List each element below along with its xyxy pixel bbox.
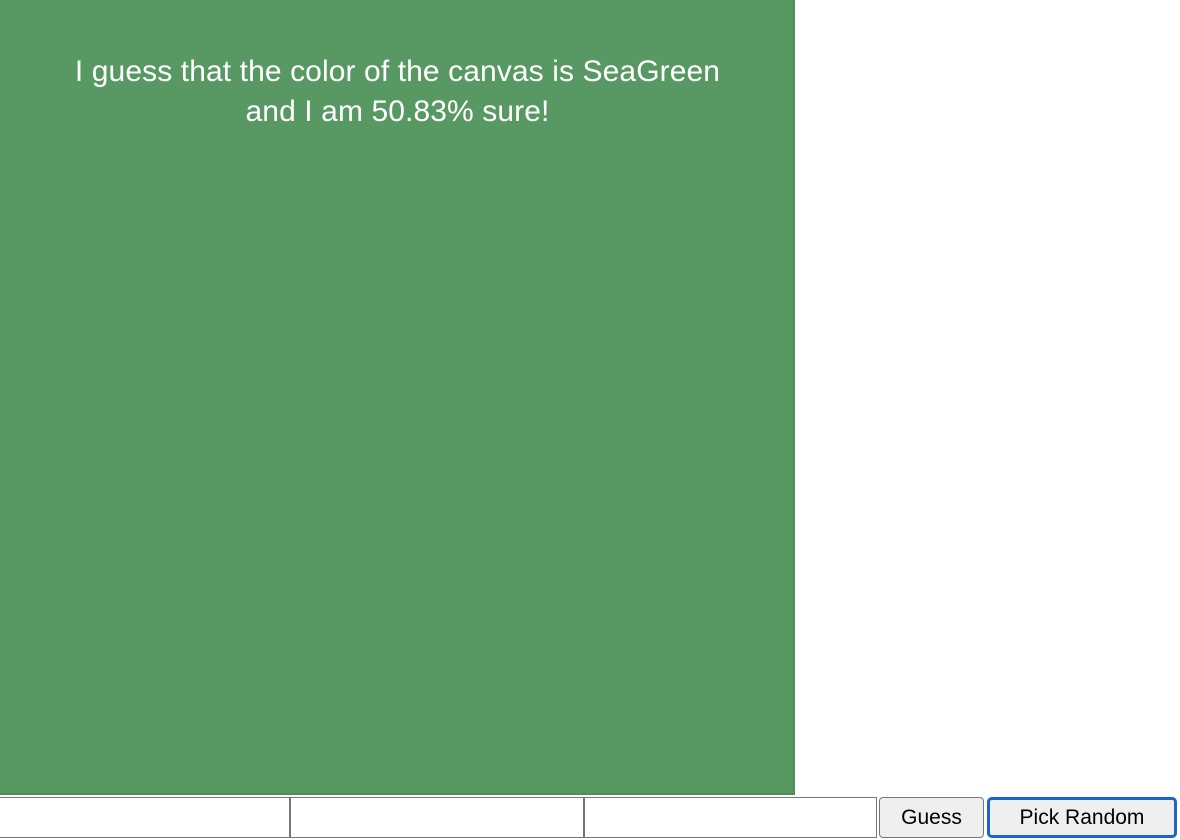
input-one[interactable] [0, 797, 290, 838]
input-two[interactable] [290, 797, 584, 838]
guess-button[interactable]: Guess [879, 797, 984, 838]
guess-message: I guess that the color of the canvas is … [0, 52, 795, 132]
control-bar: Guess Pick Random [0, 797, 1180, 840]
color-canvas[interactable]: I guess that the color of the canvas is … [0, 0, 795, 795]
color-guesser-app: I guess that the color of the canvas is … [0, 0, 1180, 840]
input-three[interactable] [584, 797, 877, 838]
pick-random-button[interactable]: Pick Random [987, 797, 1177, 838]
